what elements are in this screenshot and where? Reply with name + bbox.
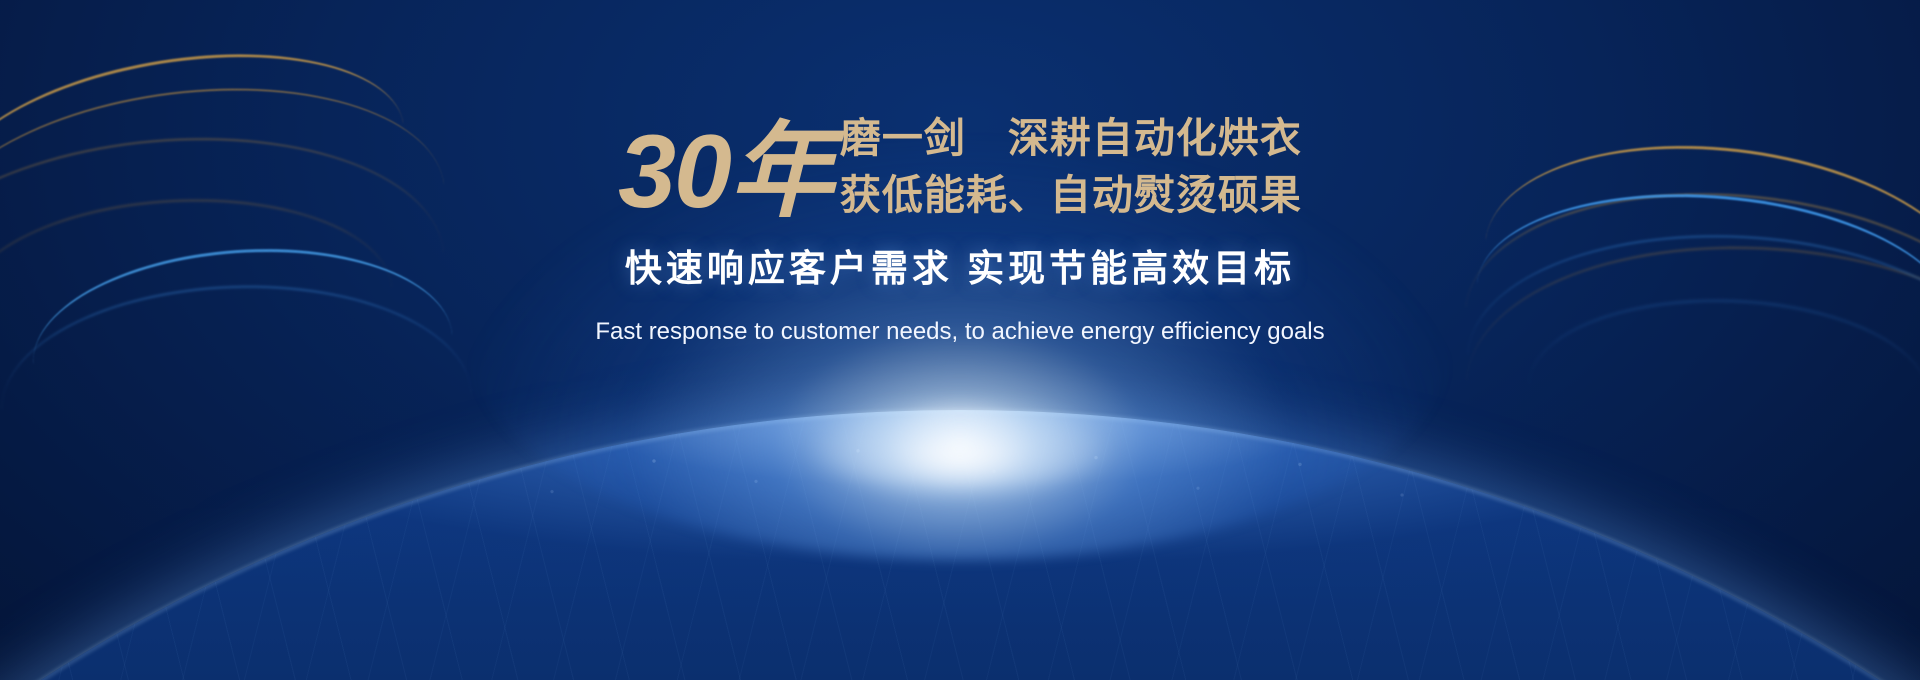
- headline-gold-line-2: 获低能耗、自动熨烫硕果: [840, 167, 1302, 224]
- light-burst-core: [810, 402, 1110, 492]
- promo-banner: 30年 磨一剑 深耕自动化烘衣 获低能耗、自动熨烫硕果 快速响应客户需求 实现节…: [0, 0, 1920, 680]
- headline-gold-line-1: 磨一剑 深耕自动化烘衣: [840, 110, 1302, 167]
- headline-row: 30年 磨一剑 深耕自动化烘衣 获低能耗、自动熨烫硕果: [0, 110, 1920, 224]
- banner-copy: 30年 磨一剑 深耕自动化烘衣 获低能耗、自动熨烫硕果 快速响应客户需求 实现节…: [0, 110, 1920, 346]
- headline-gold-lines: 磨一剑 深耕自动化烘衣 获低能耗、自动熨烫硕果: [832, 110, 1302, 223]
- subheadline-english: Fast response to customer needs, to achi…: [0, 318, 1920, 346]
- headline-number: 30年: [618, 110, 832, 224]
- subheadline-chinese: 快速响应客户需求 实现节能高效目标: [0, 238, 1920, 292]
